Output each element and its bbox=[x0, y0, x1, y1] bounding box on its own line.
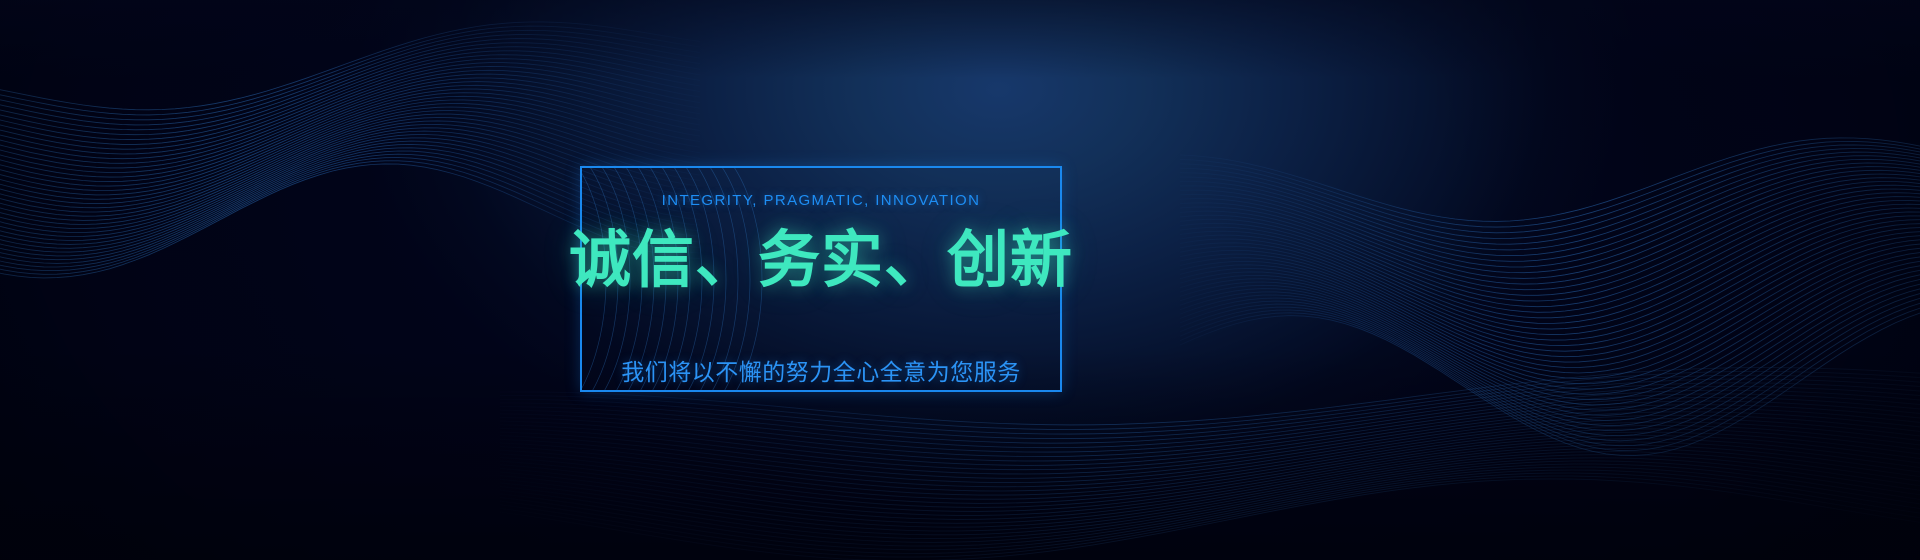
hero-banner: INTEGRITY, PRAGMATIC, INNOVATION 诚信、务实、创… bbox=[0, 0, 1920, 560]
slogan-content: INTEGRITY, PRAGMATIC, INNOVATION 诚信、务实、创… bbox=[582, 168, 1060, 390]
slogan-tagline: 我们将以不懈的努力全心全意为您服务 bbox=[621, 359, 1021, 387]
slogan-headline: 诚信、务实、创新 bbox=[569, 228, 1073, 294]
slogan-eyebrow: INTEGRITY, PRAGMATIC, INNOVATION bbox=[662, 193, 981, 208]
slogan-frame: INTEGRITY, PRAGMATIC, INNOVATION 诚信、务实、创… bbox=[580, 166, 1062, 392]
